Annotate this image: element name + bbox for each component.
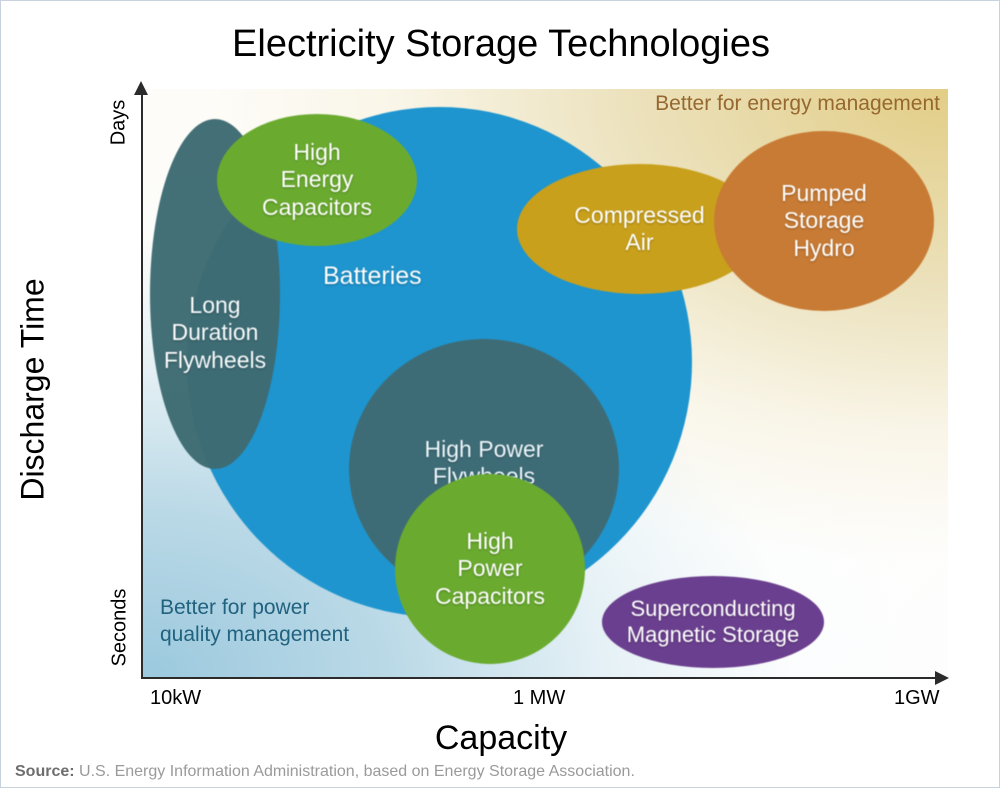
bubble-label-batteries: Batteries [317, 262, 428, 292]
y-tick-days: Days [108, 83, 131, 163]
bubble-label-pumped-storage-hydro: Pumped Storage Hydro [775, 180, 873, 261]
annotation-better-energy-management: Better for energy management [655, 92, 940, 116]
x-tick-1gw: 1GW [894, 687, 940, 710]
bubble-label-high-energy-capacitors: High Energy Capacitors [256, 139, 378, 220]
annotation-better-power-quality: Better for power quality management [160, 594, 349, 649]
bubble-label-high-power-capacitors: High Power Capacitors [429, 528, 551, 609]
y-tick-seconds: Seconds [109, 573, 132, 683]
x-tick-1mw: 1 MW [513, 687, 565, 710]
y-axis-arrow-icon [134, 81, 148, 95]
plot-area: Batteries Long Duration Flywheels High E… [142, 89, 948, 677]
bubble-label-superconducting-magnetic-storage: Superconducting Magnetic Storage [621, 596, 805, 648]
bubble-label-compressed-air: Compressed Air [568, 202, 710, 256]
chart-page: Electricity Storage Technologies Batteri… [0, 0, 1000, 788]
bubble-superconducting-magnetic-storage[interactable]: Superconducting Magnetic Storage [602, 576, 824, 668]
y-axis-title: Discharge Time [15, 230, 52, 550]
source-note: Source: U.S. Energy Information Administ… [15, 763, 635, 781]
x-axis-title: Capacity [1, 719, 1000, 758]
source-prefix: Source: [15, 763, 75, 780]
source-text: U.S. Energy Information Administration, … [75, 763, 635, 780]
bubble-label-long-duration-flywheels: Long Duration Flywheels [158, 292, 272, 373]
page-title: Electricity Storage Technologies [1, 23, 1000, 66]
x-tick-10kw: 10kW [150, 687, 201, 710]
x-axis-line [141, 677, 938, 679]
bubble-pumped-storage-hydro[interactable]: Pumped Storage Hydro [714, 131, 934, 311]
y-axis-line [141, 89, 143, 679]
x-axis-arrow-icon [935, 671, 949, 685]
bubble-high-energy-capacitors[interactable]: High Energy Capacitors [217, 114, 417, 246]
bubble-high-power-capacitors[interactable]: High Power Capacitors [395, 474, 585, 664]
